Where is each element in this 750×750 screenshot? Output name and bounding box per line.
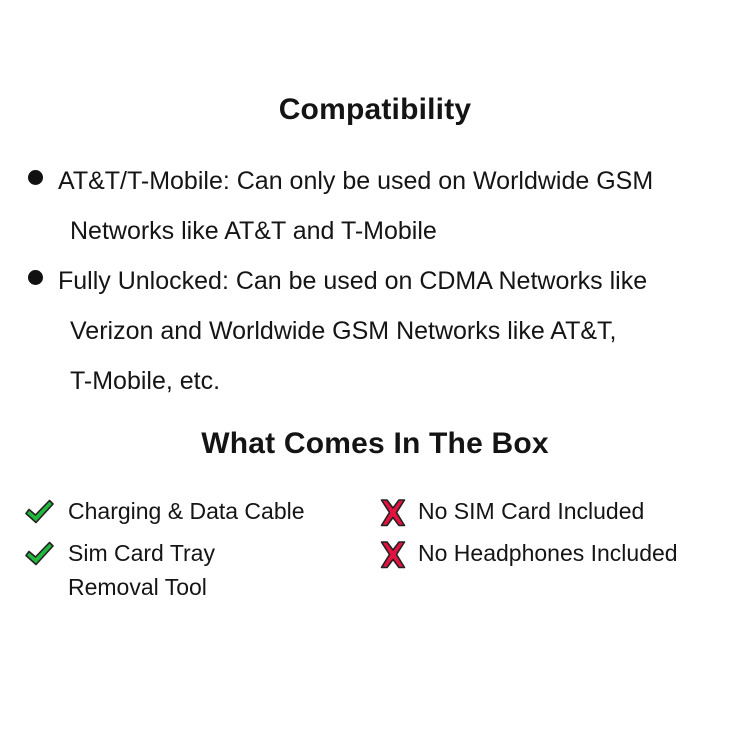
compat-line: Verizon and Worldwide GSM Networks like … [58, 306, 750, 356]
box-contents-heading: What Comes In The Box [0, 427, 750, 461]
compatibility-heading: Compatibility [0, 93, 750, 127]
green-check-icon [22, 497, 56, 527]
bullet-dot-icon [28, 170, 43, 185]
box-item-label: Sim Card Tray [68, 536, 362, 570]
bullet-dot-icon [28, 270, 43, 285]
red-cross-icon [376, 540, 410, 570]
box-item-label: Removal Tool [68, 570, 362, 604]
box-item-label: Charging & Data Cable [68, 494, 362, 528]
compat-line: AT&T/T-Mobile: Can only be used on World… [58, 156, 750, 206]
list-item: No Headphones Included [374, 536, 734, 578]
list-item: AT&T/T-Mobile: Can only be used on World… [22, 156, 750, 256]
included-items-column: Charging & Data Cable Sim Card Tray Remo… [22, 494, 362, 604]
compat-line: T-Mobile, etc. [58, 356, 750, 406]
compat-line: Fully Unlocked: Can be used on CDMA Netw… [58, 256, 750, 306]
list-item: Fully Unlocked: Can be used on CDMA Netw… [22, 256, 750, 406]
green-check-icon [22, 539, 56, 569]
box-item-label: No Headphones Included [418, 536, 734, 570]
list-item: Charging & Data Cable [22, 494, 362, 536]
box-contents-columns: Charging & Data Cable Sim Card Tray Remo… [0, 494, 750, 624]
compat-line: Networks like AT&T and T-Mobile [58, 206, 750, 256]
excluded-items-column: No SIM Card Included No Headphones Inclu… [374, 494, 734, 578]
list-item: No SIM Card Included [374, 494, 734, 536]
compatibility-list: AT&T/T-Mobile: Can only be used on World… [22, 156, 750, 406]
box-item-label: No SIM Card Included [418, 494, 734, 528]
red-cross-icon [376, 498, 410, 528]
compatibility-info-panel: Compatibility AT&T/T-Mobile: Can only be… [0, 0, 750, 750]
list-item: Sim Card Tray Removal Tool [22, 536, 362, 604]
